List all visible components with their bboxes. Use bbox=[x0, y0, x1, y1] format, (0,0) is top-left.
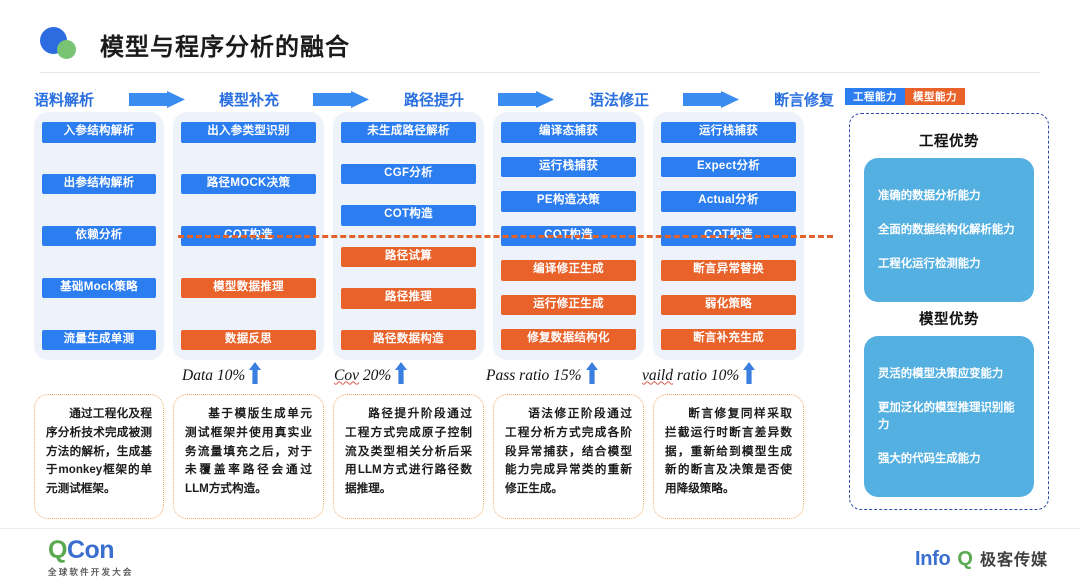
model-chip[interactable]: 修复数据结构化 bbox=[501, 329, 636, 350]
up-arrow-icon bbox=[586, 362, 598, 384]
chip-spacer bbox=[661, 315, 796, 329]
legend-item-model: 模型能力 bbox=[905, 88, 965, 105]
description-card-5: 断言修复同样采取拦截运行时断言差异数据，重新给到模型生成新的断言及决策是否使用降… bbox=[653, 394, 804, 519]
chip-spacer bbox=[661, 212, 796, 226]
model-advantage-box: 灵活的模型决策应变能力更加泛化的模型推理识别能力强大的代码生成能力 bbox=[864, 336, 1034, 497]
engineering-chip[interactable]: CGF分析 bbox=[341, 164, 476, 185]
model-chip[interactable]: 路径推理 bbox=[341, 288, 476, 309]
metrics-row: Data 10%Cov 20%Pass ratio 15%vaild ratio… bbox=[34, 362, 834, 390]
qcon-subtitle: 全球软件开发大会 bbox=[48, 566, 134, 578]
engineering-chip[interactable]: 依赖分析 bbox=[42, 226, 156, 247]
qcon-logo: QCon 全球软件开发大会 bbox=[48, 538, 134, 578]
model-chip[interactable]: 断言补充生成 bbox=[661, 329, 796, 350]
stage-label-1: 语料解析 bbox=[34, 89, 94, 110]
engineering-chip[interactable]: 入参结构解析 bbox=[42, 122, 156, 143]
engineering-chip[interactable]: 运行栈捕获 bbox=[501, 157, 636, 178]
infoq-q-letter: Q bbox=[957, 548, 973, 571]
chip-spacer bbox=[42, 246, 156, 277]
chip-spacer bbox=[501, 315, 636, 329]
stage-arrow-icon bbox=[498, 91, 554, 108]
chip-spacer bbox=[501, 177, 636, 191]
model-advantage-title: 模型优势 bbox=[864, 308, 1034, 329]
model-advantage-item: 更加泛化的模型推理识别能力 bbox=[878, 400, 1022, 433]
model-chip[interactable]: 模型数据推理 bbox=[181, 278, 316, 299]
chip-spacer bbox=[501, 212, 636, 226]
metric-up-arrow bbox=[249, 362, 261, 389]
up-arrow-icon bbox=[249, 362, 261, 384]
chip-spacer bbox=[341, 143, 476, 164]
chip-spacer bbox=[341, 267, 476, 288]
engineering-model-divider bbox=[178, 235, 833, 238]
legend-item-engineering: 工程能力 bbox=[845, 88, 905, 105]
stage-label-3: 路径提升 bbox=[404, 89, 464, 110]
chip-spacer bbox=[42, 298, 156, 329]
metric-断言修复: vaild ratio 10% bbox=[642, 362, 755, 389]
chip-spacer bbox=[661, 281, 796, 295]
chip-spacer bbox=[501, 281, 636, 295]
model-advantage-item: 强大的代码生成能力 bbox=[878, 451, 1022, 468]
description-card-4: 语法修正阶段通过工程分析方式完成各阶段异常捕获，结合模型能力完成异常类的重新修正… bbox=[493, 394, 644, 519]
qcon-q-letter: Q bbox=[48, 536, 67, 564]
capability-legend: 工程能力模型能力 bbox=[845, 88, 965, 105]
engineering-chip[interactable]: 流量生成单测 bbox=[42, 330, 156, 351]
infoq-info-letters: Info bbox=[915, 548, 950, 571]
description-card-2: 基于模版生成单元测试框架并使用真实业务流量填充之后，对于未覆盖率路径会通过LLM… bbox=[173, 394, 324, 519]
engineering-advantage-box: 准确的数据分析能力全面的数据结构化解析能力工程化运行检测能力 bbox=[864, 158, 1034, 302]
engineering-chip[interactable]: 运行栈捕获 bbox=[661, 122, 796, 143]
infoq-brand-cn: 极客传媒 bbox=[980, 546, 1048, 570]
page-title: 模型与程序分析的融合 bbox=[100, 27, 350, 62]
model-chip[interactable]: 运行修正生成 bbox=[501, 295, 636, 316]
model-chip[interactable]: 路径试算 bbox=[341, 247, 476, 268]
chip-spacer bbox=[42, 143, 156, 174]
advantages-panel: 工程优势 准确的数据分析能力全面的数据结构化解析能力工程化运行检测能力 模型优势… bbox=[849, 113, 1049, 510]
stage-arrow-icon bbox=[313, 91, 369, 108]
title-divider bbox=[40, 72, 1040, 73]
metric-路径提升: Cov 20% bbox=[334, 362, 407, 389]
pipeline-column-1: 入参结构解析出参结构解析依赖分析基础Mock策略流量生成单测 bbox=[34, 112, 164, 360]
engineering-chip[interactable]: 出入参类型识别 bbox=[181, 122, 316, 143]
metric-up-arrow bbox=[586, 362, 598, 389]
chip-spacer bbox=[661, 143, 796, 157]
model-chip[interactable]: 编译修正生成 bbox=[501, 260, 636, 281]
stage-label-4: 语法修正 bbox=[589, 89, 649, 110]
chip-spacer bbox=[42, 194, 156, 225]
description-card-3: 路径提升阶段通过工程方式完成原子控制流及类型相关分析后采用LLM方式进行路径数据… bbox=[333, 394, 484, 519]
chip-spacer bbox=[661, 246, 796, 260]
up-arrow-icon bbox=[395, 362, 407, 384]
metric-text: Pass ratio 15% bbox=[486, 367, 582, 385]
chip-spacer bbox=[341, 184, 476, 205]
metric-语法修正: Pass ratio 15% bbox=[486, 362, 598, 389]
qcon-wordmark: QCon bbox=[48, 538, 134, 563]
chip-spacer bbox=[661, 177, 796, 191]
chip-spacer bbox=[181, 298, 316, 329]
engineering-chip[interactable]: PE构造决策 bbox=[501, 191, 636, 212]
qcon-con-letters: Con bbox=[67, 536, 114, 564]
model-chip[interactable]: 断言异常替换 bbox=[661, 260, 796, 281]
description-card-1: 通过工程化及程序分析技术完成被测方法的解析，生成基于monkey框架的单元测试框… bbox=[34, 394, 164, 519]
engineering-chip[interactable]: 路径MOCK决策 bbox=[181, 174, 316, 195]
engineering-chip[interactable]: COT构造 bbox=[341, 205, 476, 226]
chip-spacer bbox=[181, 194, 316, 225]
engineering-chip[interactable]: 基础Mock策略 bbox=[42, 278, 156, 299]
page-header: 模型与程序分析的融合 bbox=[40, 22, 350, 66]
engineering-chip[interactable]: Expect分析 bbox=[661, 157, 796, 178]
metric-up-arrow bbox=[743, 362, 755, 389]
engineering-advantage-item: 准确的数据分析能力 bbox=[878, 188, 1022, 205]
chip-spacer bbox=[501, 246, 636, 260]
footer-divider bbox=[0, 528, 1080, 529]
metric-up-arrow bbox=[395, 362, 407, 389]
metric-text: vaild ratio 10% bbox=[642, 367, 739, 385]
engineering-advantage-item: 全面的数据结构化解析能力 bbox=[878, 222, 1022, 239]
metric-text: Cov 20% bbox=[334, 367, 391, 385]
logo-green-dot-icon bbox=[57, 40, 76, 59]
stage-label-5: 断言修复 bbox=[774, 89, 834, 110]
stage-label-2: 模型补充 bbox=[219, 89, 279, 110]
chip-spacer bbox=[501, 143, 636, 157]
stage-arrow-icon bbox=[683, 91, 739, 108]
stage-arrow-icon bbox=[129, 91, 185, 108]
engineering-chip[interactable]: Actual分析 bbox=[661, 191, 796, 212]
model-advantage-item: 灵活的模型决策应变能力 bbox=[878, 366, 1022, 383]
chip-spacer bbox=[341, 309, 476, 330]
engineering-chip[interactable]: 出参结构解析 bbox=[42, 174, 156, 195]
engineering-chip[interactable]: 编译态捕获 bbox=[501, 122, 636, 143]
infoq-logo: InfoQ 极客传媒 bbox=[915, 546, 1048, 571]
stage-header-row: 语料解析模型补充路径提升语法修正断言修复 bbox=[34, 86, 834, 112]
up-arrow-icon bbox=[743, 362, 755, 384]
description-cards-row: 通过工程化及程序分析技术完成被测方法的解析，生成基于monkey框架的单元测试框… bbox=[34, 394, 834, 519]
chip-spacer bbox=[181, 246, 316, 277]
metric-模型补充: Data 10% bbox=[182, 362, 261, 389]
model-chip[interactable]: 数据反思 bbox=[181, 330, 316, 351]
chip-spacer bbox=[181, 143, 316, 174]
brand-logo-icon bbox=[40, 27, 82, 61]
metric-text: Data 10% bbox=[182, 367, 245, 385]
engineering-chip[interactable]: 未生成路径解析 bbox=[341, 122, 476, 143]
engineering-advantage-title: 工程优势 bbox=[864, 130, 1034, 151]
engineering-advantage-item: 工程化运行检测能力 bbox=[878, 256, 1022, 273]
model-chip[interactable]: 弱化策略 bbox=[661, 295, 796, 316]
model-chip[interactable]: 路径数据构造 bbox=[341, 330, 476, 351]
